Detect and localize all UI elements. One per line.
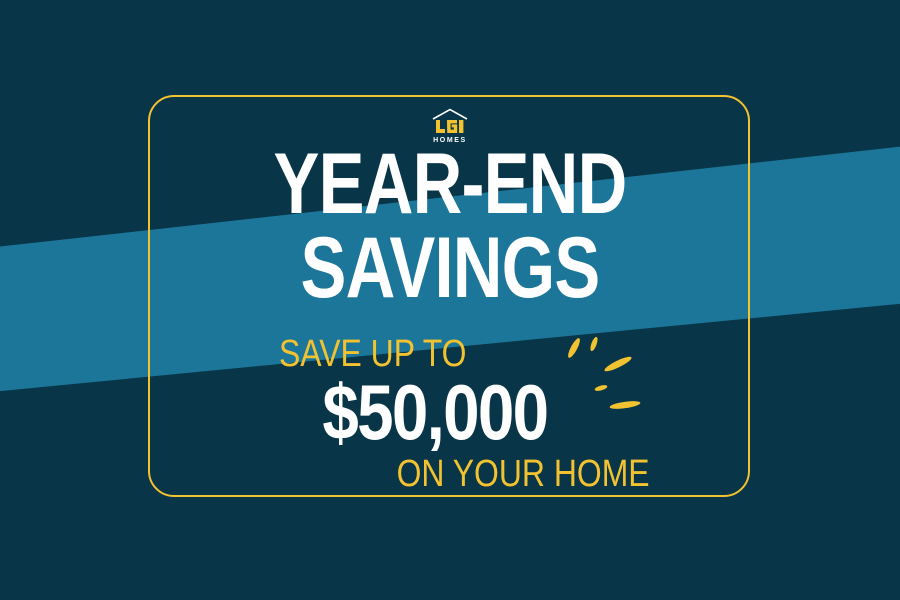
- lgi-house-logo-icon: [420, 106, 480, 136]
- offer-amount: $50,000: [57, 372, 813, 452]
- headline-line-1: YEAR-END: [90, 142, 810, 226]
- promo-banner: HOMES YEAR-END SAVINGS SAVE UP TO $50,00…: [0, 0, 900, 600]
- offer-group: SAVE UP TO $50,000 ON YOUR HOME: [0, 334, 900, 494]
- headline-line-2: SAVINGS: [90, 226, 810, 310]
- offer-suffix: ON YOUR HOME: [145, 454, 900, 494]
- headline-group: YEAR-END SAVINGS: [0, 142, 900, 310]
